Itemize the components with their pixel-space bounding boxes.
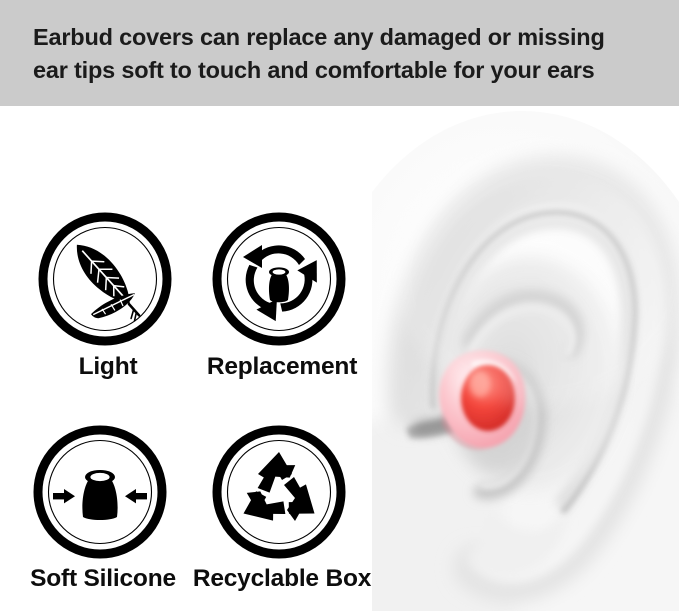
recyclable-badge [212,425,346,559]
feature-soft-silicone: Soft Silicone [33,425,173,559]
ear-photo [372,106,679,611]
header-text: Earbud covers can replace any damaged or… [33,21,653,87]
feature-label-recyclable-box: Recyclable Box [193,565,371,593]
feature-label-replacement: Replacement [207,353,357,381]
recycle-icon [212,425,346,559]
header-line-2: ear tips soft to touch and comfortable f… [33,54,653,87]
ear-illustration [372,106,679,611]
soft-silicone-badge [33,425,167,559]
feather-badge [38,212,172,346]
header-line-1: Earbud covers can replace any damaged or… [33,21,653,54]
soft-eartip-arrows-icon [33,425,167,559]
feature-replacement: Replacement [212,212,352,346]
replacement-arrows-icon [212,212,346,346]
feature-label-soft-silicone: Soft Silicone [30,565,176,593]
product-infographic: Earbud covers can replace any damaged or… [0,0,679,611]
feather-icon [38,212,172,346]
replacement-badge [212,212,346,346]
header-banner: Earbud covers can replace any damaged or… [0,0,679,106]
feature-label-light: Light [79,353,138,381]
feature-recyclable-box: Recyclable Box [212,425,352,559]
feature-light: Light [38,212,178,346]
